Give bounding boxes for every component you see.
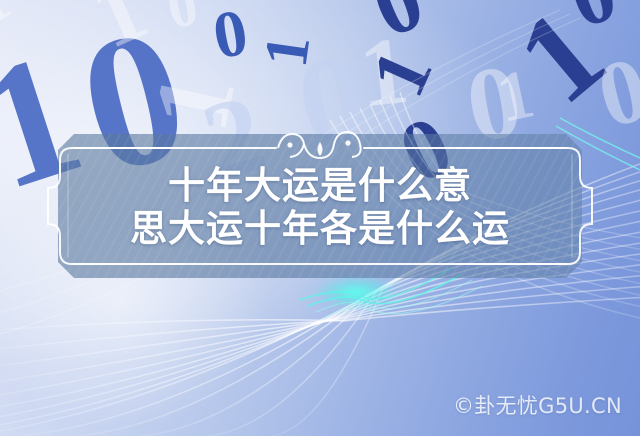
title-text-block: 十年大运是什么意 思大运十年各是什么运 xyxy=(58,152,582,262)
site-watermark: ©卦无忧G5U.CN xyxy=(453,390,622,420)
title-line-1: 十年大运是什么意 xyxy=(168,165,472,206)
title-line-2: 思大运十年各是什么运 xyxy=(130,208,510,249)
title-card: 十年大运是什么意 思大运十年各是什么运 xyxy=(34,130,606,282)
banner-canvas: 1010112011010010001 xyxy=(0,0,640,436)
